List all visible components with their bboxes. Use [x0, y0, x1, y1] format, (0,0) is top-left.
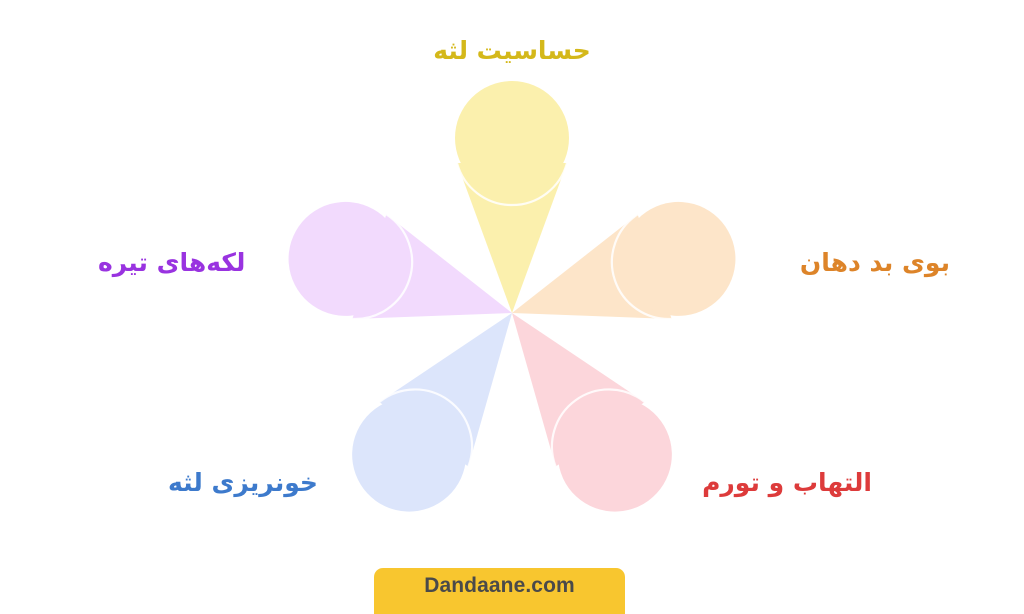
petal-label-gum-sensitivity: حساسیت لثه [0, 36, 1024, 66]
petal-label-bad-breath: بوی بد دهان [800, 248, 950, 278]
petal-graphic [0, 0, 1024, 614]
petal-label-dark-spots: لکه‌های تیره [98, 248, 245, 278]
petal-group-gum-sensitivity [455, 81, 569, 313]
watermark-label: Dandaane.com [424, 574, 575, 598]
watermark-badge[interactable]: Dandaane.com [374, 568, 625, 614]
petal-label-gum-bleeding: خونریزی لثه [168, 468, 318, 498]
petal-shape-gum-sensitivity [455, 81, 569, 313]
flower-diagram: حساسیت لثه بوی بد دهان التهاب و تورم خون… [0, 0, 1024, 614]
petal-label-inflammation-swelling: التهاب و تورم [702, 468, 872, 498]
